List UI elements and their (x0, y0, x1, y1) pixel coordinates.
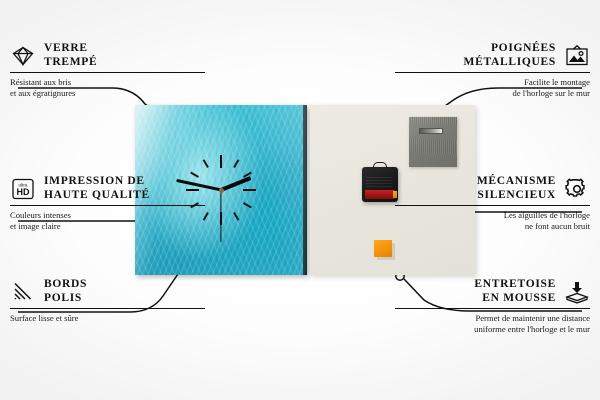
feature-header: VERRE TREMPÉ (10, 42, 205, 69)
foam-spacer (374, 240, 392, 257)
feature-description: Permet de maintenir une distance uniform… (395, 313, 590, 334)
clock-tick (203, 159, 240, 221)
feature-title: BORDS POLIS (44, 278, 87, 305)
feature-poignees-metalliques: POIGNÉES MÉTALLIQUES Facilite le montage… (395, 42, 590, 98)
feature-header: MÉCANISME SILENCIEUX (395, 175, 590, 202)
feature-description: Facilite le montage de l'horloge sur le … (395, 77, 590, 98)
clock-tick (203, 159, 240, 221)
clock-tick (220, 155, 222, 225)
feature-description: Couleurs intenses et image claire (10, 210, 205, 231)
feature-entretoise-en-mousse: ENTRETOISE EN MOUSSE Permet de maintenir… (395, 278, 590, 334)
feature-title: POIGNÉES MÉTALLIQUES (464, 42, 556, 69)
feature-bords-polis: BORDS POLIS Surface lisse et sûre (10, 278, 205, 324)
feature-title: MÉCANISME SILENCIEUX (477, 175, 556, 202)
glass-edge (303, 105, 307, 275)
hanger-slot (419, 128, 443, 134)
infographic-canvas: VERRE TREMPÉ Résistant aux bris et aux é… (0, 0, 600, 400)
feature-divider (395, 72, 590, 73)
ultra-hd-icon: ultra HD (10, 177, 36, 201)
gear-icon (564, 177, 590, 201)
feature-header: ENTRETOISE EN MOUSSE (395, 278, 590, 305)
feature-impression-haute-qualite: ultra HD IMPRESSION DE HAUTE QUALITÉ Cou… (10, 175, 205, 231)
feature-title: VERRE TREMPÉ (44, 42, 97, 69)
feature-divider (10, 308, 205, 309)
picture-frame-hanger-icon (564, 44, 590, 68)
feature-verre-trempe: VERRE TREMPÉ Résistant aux bris et aux é… (10, 42, 205, 98)
clock-tick (203, 159, 240, 221)
feature-title: ENTRETOISE EN MOUSSE (474, 278, 556, 305)
polished-edges-icon (10, 280, 36, 304)
feature-mecanisme-silencieux: MÉCANISME SILENCIEUX Les aiguilles de l'… (395, 175, 590, 231)
clock-second-hand (220, 190, 221, 242)
feature-header: POIGNÉES MÉTALLIQUES (395, 42, 590, 69)
feature-divider (395, 205, 590, 206)
metal-hanger-plate (409, 117, 457, 167)
clock-tick (220, 155, 222, 225)
foam-spacer-icon (564, 280, 590, 304)
feature-title: IMPRESSION DE HAUTE QUALITÉ (44, 175, 150, 202)
feature-divider (395, 308, 590, 309)
feature-header: BORDS POLIS (10, 278, 205, 305)
feature-description: Surface lisse et sûre (10, 313, 205, 324)
diamond-icon (10, 44, 36, 68)
clock-hour-hand (220, 176, 251, 192)
svg-text:HD: HD (17, 187, 30, 197)
mechanism-hanging-loop (373, 162, 387, 169)
mechanism-label (366, 175, 392, 187)
clock-center-pin (219, 188, 224, 193)
clock-mechanism (362, 167, 398, 202)
feature-header: ultra HD IMPRESSION DE HAUTE QUALITÉ (10, 175, 205, 202)
feature-description: Les aiguilles de l'horloge ne font aucun… (395, 210, 590, 231)
clock-tick (203, 159, 240, 221)
feature-description: Résistant aux bris et aux égratignures (10, 77, 205, 98)
feature-divider (10, 72, 205, 73)
feature-divider (10, 205, 205, 206)
battery (365, 190, 395, 199)
